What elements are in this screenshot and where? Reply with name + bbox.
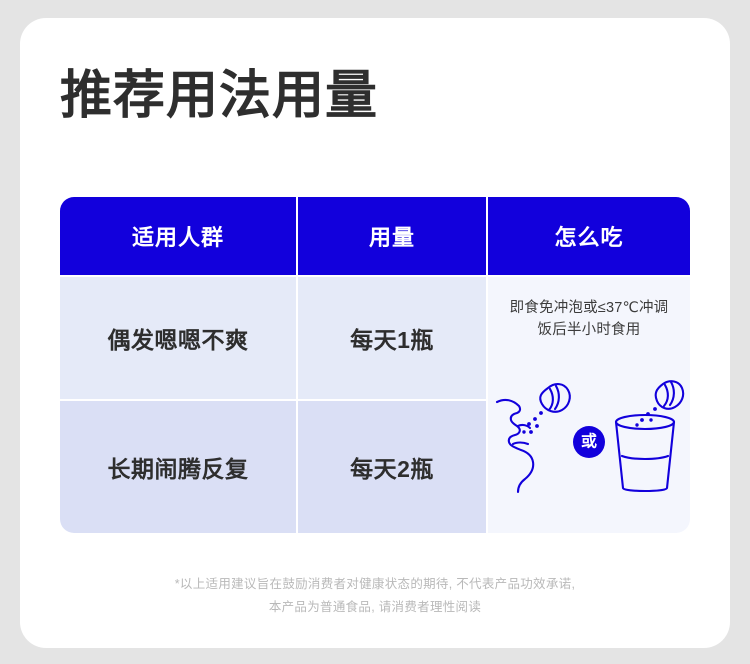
howto-line-1: 即食免冲泡或≤37℃冲调 (510, 297, 669, 319)
dosage-table: 适用人群 用量 怎么吃 偶发嗯嗯不爽 每天1瓶 即食免冲泡或≤37℃冲调 饭后半… (60, 197, 690, 533)
footnote: *以上适用建议旨在鼓励消费者对健康状态的期待, 不代表产品功效承诺, 本产品为普… (20, 573, 730, 619)
table-row: 每天1瓶 (298, 277, 486, 399)
table-row: 每天2瓶 (298, 401, 486, 533)
sachet-pouring-icon (540, 385, 570, 413)
table-header-howto: 怎么吃 (488, 197, 690, 275)
howto-instructions: 即食免冲泡或≤37℃冲调 饭后半小时食用 (510, 297, 669, 342)
footnote-line-1: *以上适用建议旨在鼓励消费者对健康状态的期待, 不代表产品功效承诺, (20, 573, 730, 596)
table-header-audience: 适用人群 (60, 197, 296, 275)
table-row: 长期闹腾反复 (60, 401, 296, 533)
or-badge-label: 或 (581, 432, 597, 451)
footnote-line-2: 本产品为普通食品, 请消费者理性阅读 (20, 596, 730, 619)
face-profile-direct-intake-icon (497, 400, 533, 492)
cell-audience-1: 偶发嗯嗯不爽 (108, 321, 249, 355)
table-row: 偶发嗯嗯不爽 (60, 277, 296, 399)
howto-line-2: 饭后半小时食用 (510, 319, 669, 341)
consumption-methods-illustration: 或 (491, 380, 687, 500)
cell-howto: 即食免冲泡或≤37℃冲调 饭后半小时食用 (488, 277, 690, 533)
table-header-dosage: 用量 (298, 197, 486, 275)
howto-illustration: 或 (491, 348, 687, 533)
cell-dosage-1: 每天1瓶 (350, 321, 434, 355)
page-card: 推荐用法用量 适用人群 用量 怎么吃 偶发嗯嗯不爽 每天1瓶 即食免冲泡 (20, 18, 730, 648)
sachet-pouring-icon (656, 382, 684, 410)
cell-audience-2: 长期闹腾反复 (108, 450, 249, 484)
glass-of-water-mix-icon (616, 415, 674, 491)
row2-divider-2 (486, 401, 488, 533)
page-title: 推荐用法用量 (60, 70, 378, 122)
cell-dosage-2: 每天2瓶 (350, 450, 434, 484)
